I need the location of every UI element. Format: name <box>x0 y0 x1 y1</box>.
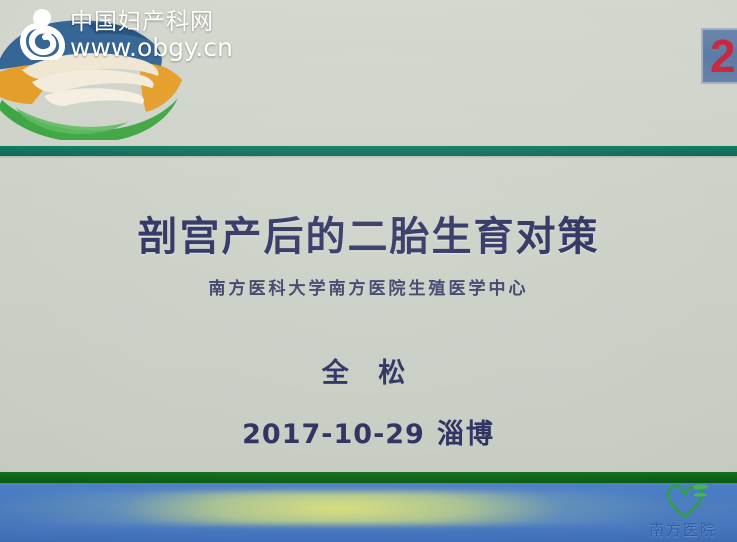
slide-header: 中国妇产科网 www.obgy.cn 2 <box>0 0 737 148</box>
presentation-slide: 中国妇产科网 www.obgy.cn 2 剖宫产后的二胎生育对策 南方医科大学南… <box>0 0 737 542</box>
hospital-logo: 南方医院 <box>637 483 729 542</box>
page-subtitle: 南方医科大学南方医院生殖医学中心 <box>0 262 737 299</box>
green-heart-leaf-logo <box>663 480 711 520</box>
obgy-swirl-logo <box>18 8 70 60</box>
site-watermark: 中国妇产科网 www.obgy.cn <box>70 11 233 60</box>
page-title: 剖宫产后的二胎生育对策 <box>0 156 737 262</box>
slide-footer <box>0 483 737 542</box>
date-location-line: 2017-10-29淄博 <box>0 390 737 451</box>
header-divider <box>0 146 737 156</box>
slide-body: 剖宫产后的二胎生育对策 南方医科大学南方医院生殖医学中心 全 松 2017-10… <box>0 156 737 472</box>
footer-divider <box>0 472 737 483</box>
watermark-url-label: www.obgy.cn <box>70 35 233 60</box>
footer-glow-accent <box>0 491 737 525</box>
location-label: 淄博 <box>437 419 495 450</box>
date-label: 2017-10-29 <box>242 419 425 450</box>
presenter-name: 全 松 <box>0 299 737 390</box>
page-number-label: 2 <box>710 29 736 83</box>
watermark-chinese-label: 中国妇产科网 <box>70 11 233 34</box>
hospital-name-label: 南方医院 <box>637 519 729 540</box>
page-number-badge: 2 <box>701 28 737 84</box>
